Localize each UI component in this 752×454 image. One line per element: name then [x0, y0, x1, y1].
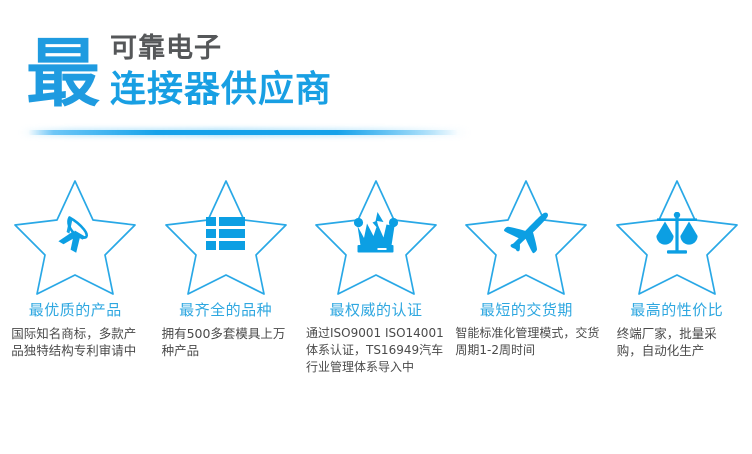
crown-icon [353, 212, 399, 256]
headline-lines: 可靠电子 连接器供应商 [110, 32, 332, 112]
feature-description: 终端厂家，批量采购，自动化生产 [617, 325, 741, 359]
feature-list: 最优质的产品 国际知名商标，多款产品独特结构专利审请中 [0, 172, 752, 376]
headline-line-2: 连接器供应商 [110, 68, 332, 112]
feature-item-value: 最高的性价比 终端厂家，批量采购，自动化生产 [602, 172, 752, 376]
list-grid-icon [206, 216, 246, 252]
feature-icon-3 [311, 172, 441, 296]
feature-description: 智能标准化管理模式，交货周期1-2周时间 [455, 325, 601, 359]
feature-icon-4 [461, 172, 591, 296]
star-badge [10, 172, 140, 296]
star-badge [612, 172, 742, 296]
banner-header: 最 可靠电子 连接器供应商 [0, 28, 752, 138]
feature-title: 最齐全的品种 [179, 300, 272, 320]
header-divider [28, 130, 458, 135]
balance-scale-icon [654, 212, 700, 256]
feature-icon-2 [161, 172, 291, 296]
header-text-group: 最 可靠电子 连接器供应商 [26, 28, 332, 114]
star-badge [311, 172, 441, 296]
promo-banner: 最 可靠电子 连接器供应商 [0, 0, 752, 454]
feature-icon-1 [10, 172, 140, 296]
feature-title: 最权威的认证 [329, 300, 422, 320]
headline-line-1: 可靠电子 [110, 32, 332, 66]
feature-item-variety: 最齐全的品种 拥有500多套模具上万种产品 [150, 172, 300, 376]
star-badge [161, 172, 291, 296]
feature-item-delivery: 最短的交货期 智能标准化管理模式，交货周期1-2周时间 [451, 172, 601, 376]
feature-icon-5 [612, 172, 742, 296]
feature-description: 拥有500多套模具上万种产品 [162, 325, 294, 359]
feature-title: 最优质的产品 [29, 300, 122, 320]
feature-description: 通过ISO9001 ISO14001体系认证，TS16949汽车行业管理体系导入… [306, 325, 452, 376]
trophy-ribbon-icon [52, 211, 98, 257]
feature-description: 国际知名商标，多款产品独特结构专利审请中 [11, 325, 143, 359]
feature-title: 最短的交货期 [480, 300, 573, 320]
star-badge [461, 172, 591, 296]
feature-title: 最高的性价比 [630, 300, 723, 320]
airplane-icon [502, 212, 550, 256]
feature-item-certification: 最权威的认证 通过ISO9001 ISO14001体系认证，TS16949汽车行… [301, 172, 451, 376]
feature-item-quality: 最优质的产品 国际知名商标，多款产品独特结构专利审请中 [0, 172, 150, 376]
headline-big-character: 最 [26, 34, 100, 114]
